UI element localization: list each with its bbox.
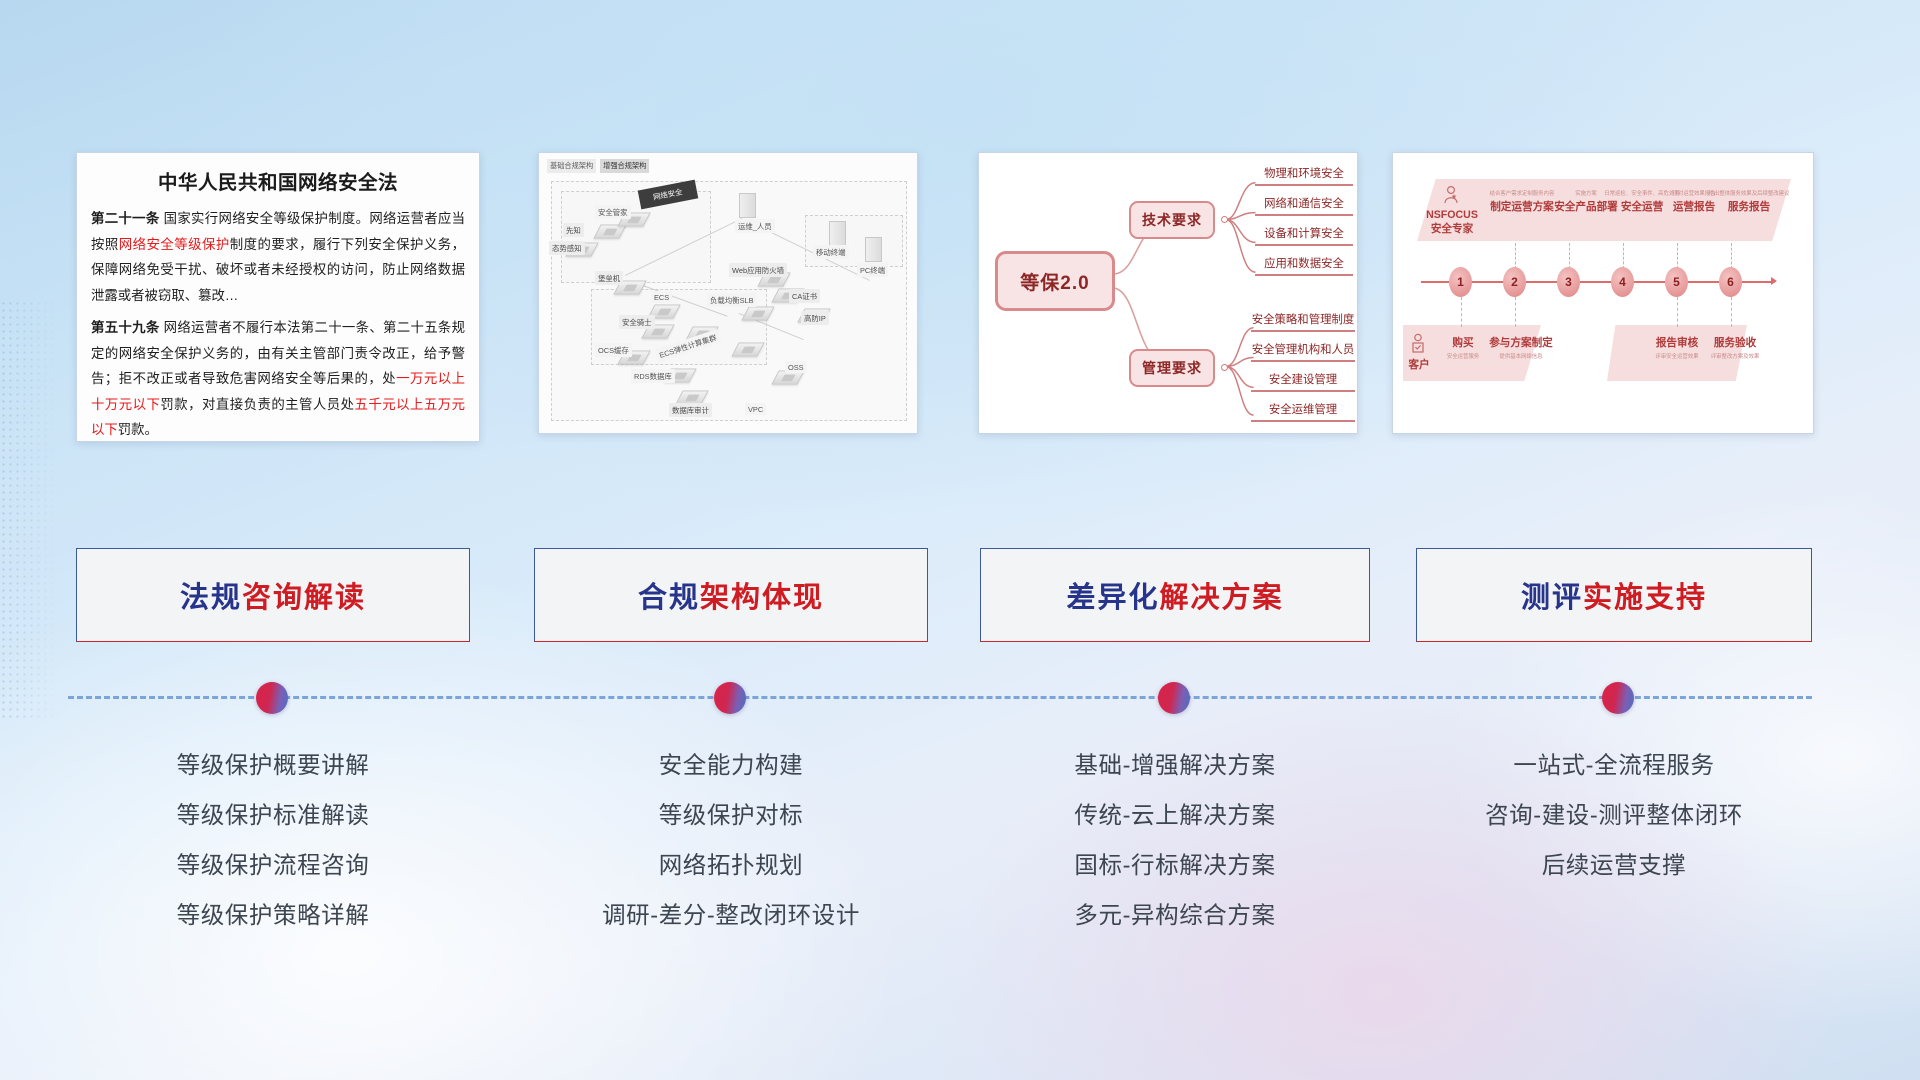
label-高防IP: 高防IP [801, 311, 829, 325]
banner-title-blue: 法规 [180, 582, 242, 614]
list-item: 调研-差分-整改闭环设计 [534, 890, 928, 940]
label-运维人员: 运维_人员 [735, 219, 775, 233]
list-item: 多元-异构综合方案 [980, 890, 1370, 940]
timeline-arrow-icon [1771, 277, 1777, 285]
expert-line-1: NSFOCUS [1425, 209, 1479, 221]
mindmap-leaf: 安全运维管理 [1251, 401, 1355, 422]
banner-差异化解决方案[interactable]: 差异化解决方案 [980, 548, 1370, 642]
card-law-document[interactable]: 中华人民共和国网络安全法 第二十一条 国家实行网络安全等级保护制度。网络运营者应… [76, 152, 480, 442]
label-态势感知: 态势感知 [549, 241, 585, 255]
detail-column-2: 安全能力构建 等级保护对标 网络拓扑规划 调研-差分-整改闭环设计 [534, 740, 928, 940]
list-item: 国标-行标解决方案 [980, 840, 1370, 890]
banner-title: 差异化解决方案 [1066, 574, 1283, 616]
zone-edge [805, 215, 903, 267]
label-VPC: VPC [745, 403, 766, 415]
timeline-connector [1623, 243, 1624, 269]
list-item: 等级保护概要讲解 [76, 740, 470, 790]
article-59-label: 第五十九条 [91, 320, 160, 335]
timeline-bottom-item: 服务验收 评审整改方案及效果 [1697, 335, 1773, 360]
heading-banner-row: 法规咨询解读 合规架构体现 差异化解决方案 测评实施支持 [0, 548, 1920, 646]
timeline-canvas: NSFOCUS 安全专家 结合客户需求定制服务内容 制定运营方案 实施方案 安全… [1393, 153, 1813, 433]
banner-title-red: 实施支持 [1583, 582, 1707, 614]
timeline-connector [1569, 243, 1570, 269]
list-item: 一站式-全流程服务 [1416, 740, 1812, 790]
label-负载均衡SLB: 负载均衡SLB [707, 293, 757, 307]
mindmap-canvas: 等保2.0 技术要求 物理和环境安全 网络和通信安全 设备和计算安全 应用和数据… [979, 153, 1357, 433]
article-59-part3: 罚款。 [118, 422, 158, 437]
expert-label: NSFOCUS 安全专家 [1425, 209, 1479, 236]
label-安全管家: 安全管家 [595, 205, 631, 219]
list-item: 网络拓扑规划 [534, 840, 928, 890]
timeline-connector [1731, 297, 1732, 327]
mindmap-branch-management[interactable]: 管理要求 [1129, 349, 1215, 387]
list-item: 等级保护策略详解 [76, 890, 470, 940]
detail-column-3: 基础-增强解决方案 传统-云上解决方案 国标-行标解决方案 多元-异构综合方案 [980, 740, 1370, 940]
expert-avatar-icon [1441, 185, 1461, 205]
label-安全骑士: 安全骑士 [619, 315, 655, 329]
mindmap-leaf: 安全策略和管理制度 [1251, 311, 1355, 332]
expand-dot-icon[interactable] [1221, 364, 1228, 371]
label-OSS: OSS [785, 361, 807, 373]
timeline-marker-2[interactable] [714, 682, 746, 714]
list-item: 安全能力构建 [534, 740, 928, 790]
bottom-item-title: 服务验收 [1697, 335, 1773, 350]
timeline-connector [1515, 243, 1516, 269]
timeline-connector [1677, 243, 1678, 269]
label-数据库审计: 数据库审计 [669, 403, 712, 417]
timeline-top-item: 给出整体服务效果及后续整改建议 服务报告 [1703, 189, 1795, 214]
label-ECS: ECS [651, 291, 672, 303]
timeline-bottom-item: 参与方案制定 提供基本网络信息 [1481, 335, 1561, 360]
label-堡垒机: 堡垒机 [595, 271, 623, 285]
timeline-step-dot[interactable]: 4 [1611, 267, 1634, 297]
card-mindmap[interactable]: 等保2.0 技术要求 物理和环境安全 网络和通信安全 设备和计算安全 应用和数据… [978, 152, 1358, 434]
law-article-21: 第二十一条 国家实行网络安全等级保护制度。网络运营者应当按照网络安全等级保护制度… [91, 206, 465, 308]
mindmap-leaf: 设备和计算安全 [1255, 225, 1353, 246]
top-item-title: 服务报告 [1703, 199, 1795, 214]
top-item-sub: 给出整体服务效果及后续整改建议 [1703, 189, 1795, 197]
bottom-item-title: 参与方案制定 [1481, 335, 1561, 350]
timeline-connector [1731, 243, 1732, 269]
banner-title-red: 解决方案 [1160, 582, 1284, 614]
mindmap-leaf: 应用和数据安全 [1255, 255, 1353, 276]
label-移动终端: 移动终端 [813, 245, 849, 259]
timeline-connector [1677, 297, 1678, 327]
list-item: 传统-云上解决方案 [980, 790, 1370, 840]
bottom-item-sub: 评审整改方案及效果 [1697, 352, 1773, 360]
law-title: 中华人民共和国网络安全法 [91, 166, 465, 195]
list-item: 后续运营支撑 [1416, 840, 1812, 890]
tab-enhanced-架构[interactable]: 增强合规架构 [600, 159, 649, 173]
timeline-marker-1[interactable] [256, 682, 288, 714]
timeline-step-dot[interactable]: 5 [1665, 267, 1688, 297]
label-RDS数据库: RDS数据库 [631, 369, 675, 383]
list-item: 等级保护流程咨询 [76, 840, 470, 890]
mindmap-leaf: 网络和通信安全 [1255, 195, 1353, 216]
banner-法规咨询解读[interactable]: 法规咨询解读 [76, 548, 470, 642]
detail-columns: 等级保护概要讲解 等级保护标准解读 等级保护流程咨询 等级保护策略详解 安全能力… [0, 740, 1920, 960]
banner-title-blue: 差异化 [1066, 582, 1159, 614]
article-21-label: 第二十一条 [91, 211, 160, 226]
banner-title-blue: 测评 [1521, 582, 1583, 614]
label-先知: 先知 [563, 223, 584, 237]
list-item: 基础-增强解决方案 [980, 740, 1370, 790]
label-CA证书: CA证书 [789, 289, 820, 303]
customer-label: 客户 [1405, 357, 1433, 372]
label-OCS缓存: OCS缓存 [595, 343, 632, 357]
banner-合规架构体现[interactable]: 合规架构体现 [534, 548, 928, 642]
timeline-step-dot[interactable]: 3 [1557, 267, 1580, 297]
banner-title-red: 架构体现 [700, 582, 824, 614]
law-article-59: 第五十九条 网络运营者不履行本法第二十一条、第二十五条规定的网络安全保护义务的，… [91, 315, 465, 442]
terminal-icon [829, 221, 846, 246]
customer-avatar-icon [1409, 333, 1427, 355]
list-item: 咨询-建设-测评整体闭环 [1416, 790, 1812, 840]
banner-title-red: 咨询解读 [242, 582, 366, 614]
terminal-icon [739, 193, 756, 218]
label-Web应用防火墙: Web应用防火墙 [729, 263, 787, 277]
card-architecture-diagram[interactable]: 基础合规架构 增强合规架构 网络安全 [538, 152, 918, 434]
timeline-marker-4[interactable] [1602, 682, 1634, 714]
timeline-step-dot[interactable]: 2 [1503, 267, 1526, 297]
progress-timeline [0, 670, 1920, 730]
mindmap-leaf: 安全建设管理 [1251, 371, 1355, 392]
banner-title: 测评实施支持 [1521, 574, 1707, 616]
timeline-step-dot[interactable]: 1 [1449, 267, 1472, 297]
card-service-timeline[interactable]: NSFOCUS 安全专家 结合客户需求定制服务内容 制定运营方案 实施方案 安全… [1392, 152, 1814, 434]
mindmap-leaf: 物理和环境安全 [1255, 165, 1353, 186]
timeline-connector [1515, 297, 1516, 327]
customer-role-text: 客户 [1405, 357, 1433, 372]
tab-basic-架构[interactable]: 基础合规架构 [547, 159, 596, 173]
list-item: 等级保护标准解读 [76, 790, 470, 840]
label-PC终端: PC终端 [857, 263, 888, 277]
banner-测评实施支持[interactable]: 测评实施支持 [1416, 548, 1812, 642]
architecture-canvas: 基础合规架构 增强合规架构 网络安全 [539, 153, 917, 433]
timeline-connector [1461, 297, 1462, 327]
detail-column-4: 一站式-全流程服务 咨询-建设-测评整体闭环 后续运营支撑 [1416, 740, 1812, 890]
terminal-icon [865, 237, 882, 262]
expand-dot-icon[interactable] [1221, 216, 1228, 223]
article-21-highlight: 网络安全等级保护 [119, 237, 230, 252]
card-row: 中华人民共和国网络安全法 第二十一条 国家实行网络安全等级保护制度。网络运营者应… [0, 152, 1920, 444]
timeline-marker-3[interactable] [1158, 682, 1190, 714]
banner-title: 法规咨询解读 [180, 574, 366, 616]
bottom-item-sub: 提供基本网络信息 [1481, 352, 1561, 360]
banner-title: 合规架构体现 [638, 574, 824, 616]
timeline-step-dot[interactable]: 6 [1719, 267, 1742, 297]
detail-column-1: 等级保护概要讲解 等级保护标准解读 等级保护流程咨询 等级保护策略详解 [76, 740, 470, 940]
timeline-dashed-line [68, 696, 1812, 699]
list-item: 等级保护对标 [534, 790, 928, 840]
article-59-part2: 罚款，对直接负责的主管人员处 [160, 397, 354, 412]
mindmap-branch-technical[interactable]: 技术要求 [1129, 201, 1215, 239]
law-text-block: 中华人民共和国网络安全法 第二十一条 国家实行网络安全等级保护制度。网络运营者应… [77, 153, 479, 442]
architecture-tabs: 基础合规架构 增强合规架构 [547, 159, 649, 173]
banner-title-blue: 合规 [638, 582, 700, 614]
expert-line-2: 安全专家 [1425, 221, 1479, 236]
mindmap-root-node[interactable]: 等保2.0 [995, 251, 1115, 311]
mindmap-leaf: 安全管理机构和人员 [1251, 341, 1355, 362]
